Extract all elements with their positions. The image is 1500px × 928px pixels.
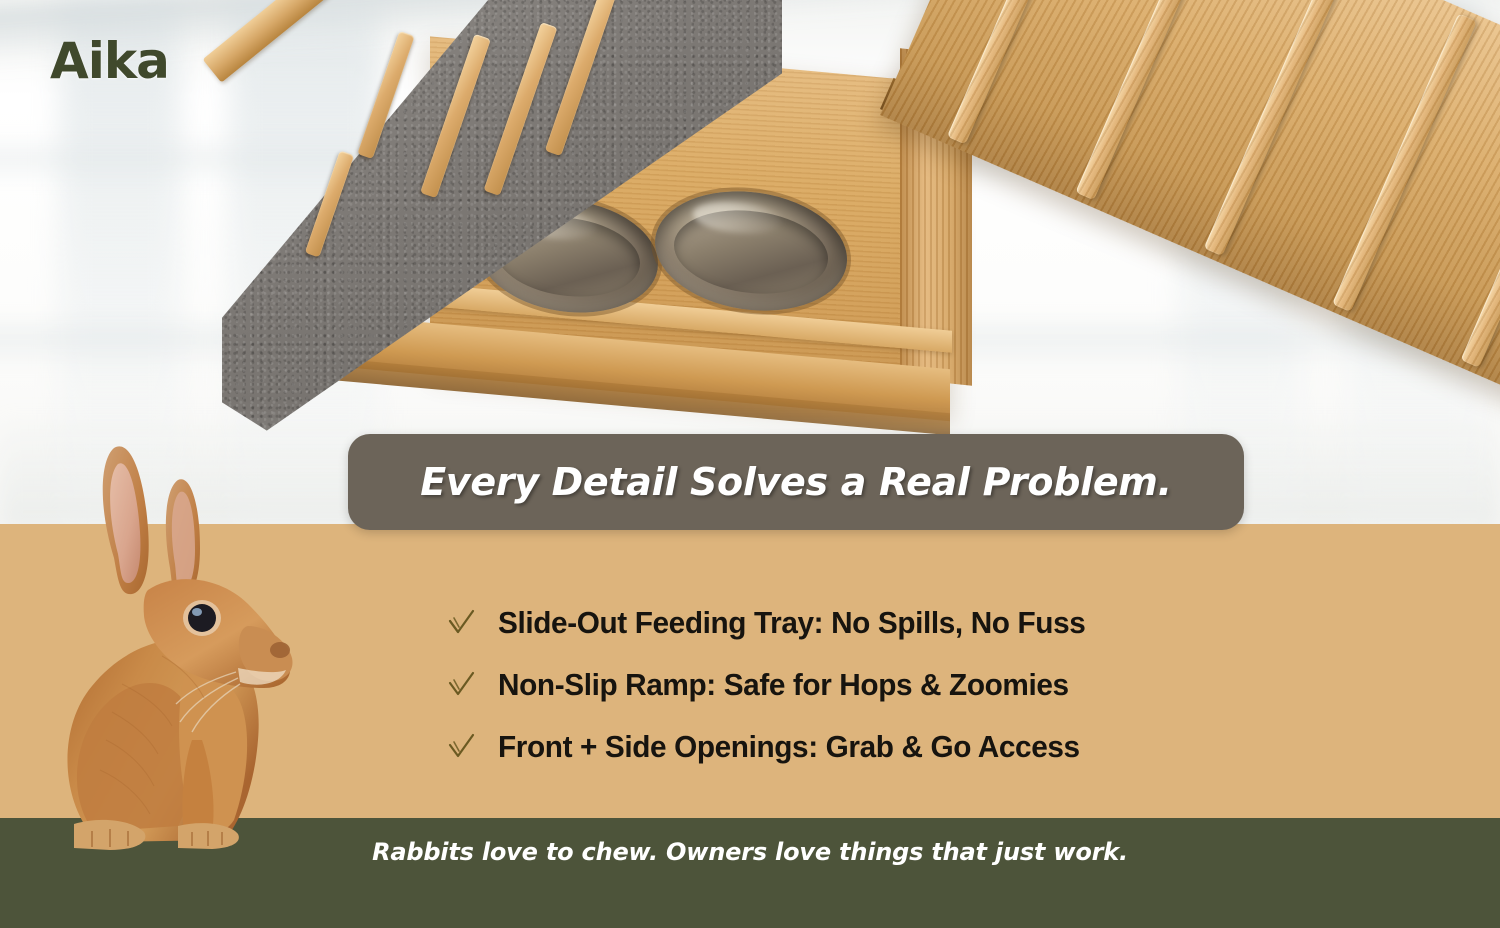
rabbit-nose — [270, 642, 290, 658]
feature-item: Non-Slip Ramp: Safe for Hops & Zoomies — [446, 654, 1246, 716]
rabbit-eye — [183, 600, 221, 636]
check-icon — [446, 732, 476, 762]
headline-banner: Every Detail Solves a Real Problem. — [348, 434, 1244, 530]
rabbit-photo — [52, 440, 382, 900]
check-icon — [446, 608, 476, 638]
check-icon — [446, 670, 476, 700]
ramp-slat — [1461, 69, 1500, 367]
marketing-banner: Aika Every Detail Solves a Real Problem.… — [0, 0, 1500, 928]
feature-label: Non-Slip Ramp: Safe for Hops & Zoomies — [498, 667, 1069, 703]
brand-logo-text: Aika — [50, 32, 169, 90]
ramp-slat — [1332, 13, 1477, 311]
ramp-slat — [1204, 0, 1349, 256]
feature-item: Front + Side Openings: Grab & Go Access — [446, 716, 1246, 778]
ramp-slat — [947, 0, 1092, 144]
ramp-slat — [1075, 0, 1220, 200]
feature-label: Front + Side Openings: Grab & Go Access — [498, 729, 1080, 765]
feature-label: Slide-Out Feeding Tray: No Spills, No Fu… — [498, 605, 1085, 641]
footer-tagline: Rabbits love to chew. Owners love things… — [0, 838, 1500, 866]
feature-item: Slide-Out Feeding Tray: No Spills, No Fu… — [446, 592, 1246, 654]
brand-logo[interactable]: Aika — [50, 36, 169, 86]
rabbit-ear-left — [103, 446, 149, 594]
feature-list: Slide-Out Feeding Tray: No Spills, No Fu… — [446, 592, 1246, 778]
headline-text: Every Detail Solves a Real Problem. — [420, 460, 1172, 504]
